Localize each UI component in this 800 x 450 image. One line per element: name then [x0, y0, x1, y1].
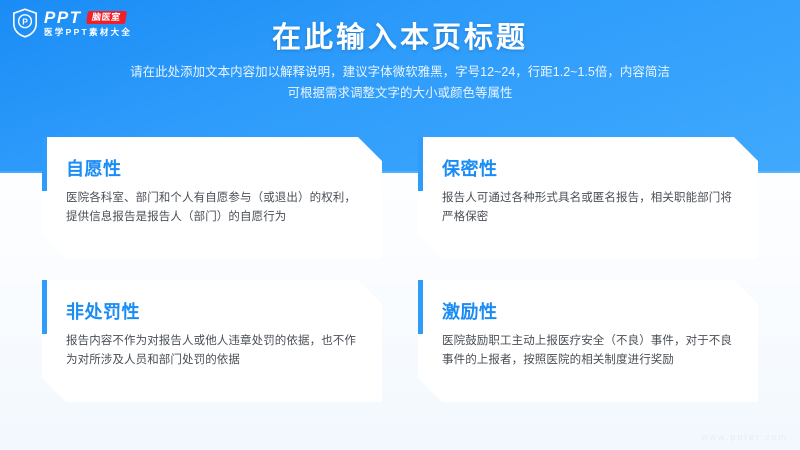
svg-text:P: P	[22, 17, 28, 27]
feature-card-grid: 自愿性 医院各科室、部门和个人有自愿参与（或退出）的权利，提供信息报告是报告人（…	[42, 137, 758, 417]
brand-logo[interactable]: P PPT 脑医室 医学PPT素材大全	[12, 8, 132, 38]
brand-badge: 脑医室	[86, 11, 126, 24]
feature-card-non-punitive[interactable]: 非处罚性 报告内容不作为对报告人或他人违章处罚的依据，也不作为对所涉及人员和部门…	[42, 280, 382, 402]
subtitle-line-2: 可根据需求调整文字的大小或颜色等属性	[0, 83, 800, 104]
card-title: 非处罚性	[66, 303, 360, 323]
brand-name: PPT	[44, 9, 82, 26]
card-body: 报告人可通过各种形式具名或匿名报告，相关职能部门将严格保密	[442, 189, 736, 227]
card-body: 医院各科室、部门和个人有自愿参与（或退出）的权利，提供信息报告是报告人（部门）的…	[66, 189, 360, 227]
feature-card-confidential[interactable]: 保密性 报告人可通过各种形式具名或匿名报告，相关职能部门将严格保密	[418, 137, 758, 259]
feature-card-incentive[interactable]: 激励性 医院鼓励职工主动上报医疗安全（不良）事件，对于不良事件的上报者，按照医院…	[418, 280, 758, 402]
site-watermark: www.ppter.com	[701, 432, 788, 442]
card-title: 保密性	[442, 160, 736, 180]
card-title: 自愿性	[66, 160, 360, 180]
card-body: 医院鼓励职工主动上报医疗安全（不良）事件，对于不良事件的上报者，按照医院的相关制…	[442, 332, 736, 370]
subtitle-line-1: 请在此处添加文本内容加以解释说明，建议字体微软雅黑，字号12~24，行距1.2~…	[0, 62, 800, 83]
card-title: 激励性	[442, 303, 736, 323]
card-body: 报告内容不作为对报告人或他人违章处罚的依据，也不作为对所涉及人员和部门处罚的依据	[66, 332, 360, 370]
shield-p-icon: P	[12, 8, 38, 38]
page-subtitle: 请在此处添加文本内容加以解释说明，建议字体微软雅黑，字号12~24，行距1.2~…	[0, 62, 800, 104]
feature-card-voluntary[interactable]: 自愿性 医院各科室、部门和个人有自愿参与（或退出）的权利，提供信息报告是报告人（…	[42, 137, 382, 259]
brand-tagline: 医学PPT素材大全	[44, 28, 132, 37]
